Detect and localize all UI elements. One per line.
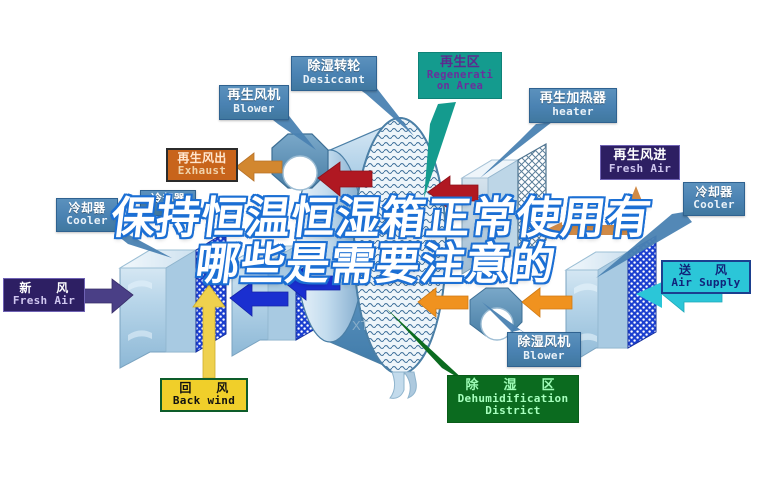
label-dehumidification-district-cn: 除 湿 区 — [448, 379, 578, 393]
label-regeneration-area-en2: on Area — [419, 81, 501, 92]
label-regeneration-blower[interactable]: 再生风机 Blower — [219, 85, 289, 120]
label-exhaust-cn: 再生风出 — [168, 152, 236, 165]
label-dehumidification-blower-en: Blower — [508, 350, 580, 362]
svg-text:XT: XT — [352, 318, 369, 333]
label-desiccant-rotor[interactable]: 除湿转轮 Desiccant — [291, 56, 377, 91]
label-regeneration-heater-en: heater — [530, 106, 616, 118]
label-exhaust-en: Exhaust — [168, 165, 236, 177]
label-regeneration-fresh-air-cn: 再生风进 — [601, 149, 679, 163]
regen-hot-air-arrow-1 — [318, 162, 372, 196]
label-regeneration-fresh-air-en: Fresh Air — [601, 163, 679, 175]
back-wind-arrow — [193, 285, 225, 378]
label-regeneration-blower-cn: 再生风机 — [220, 89, 288, 103]
label-desiccant-rotor-cn: 除湿转轮 — [292, 60, 376, 74]
headline-line-2: 哪些是需要注意的 — [0, 242, 757, 288]
regeneration-blower — [272, 134, 328, 190]
label-dehumidification-district[interactable]: 除 湿 区 Dehumidification District — [447, 375, 579, 423]
label-regeneration-blower-en: Blower — [220, 103, 288, 115]
exhaust-arrow — [236, 153, 282, 181]
diagram-canvas: XT — [0, 0, 757, 488]
dry-air-arrow-2 — [522, 288, 572, 317]
headline-overlay: 保持恒温恒湿箱正常使用有 哪些是需要注意的 — [0, 196, 757, 288]
label-regeneration-fresh-air[interactable]: 再生风进 Fresh Air — [600, 145, 680, 180]
label-desiccant-rotor-en: Desiccant — [292, 74, 376, 86]
label-back-wind-cn: 回 风 — [162, 382, 246, 395]
label-dehumidification-blower-cn: 除湿风机 — [508, 336, 580, 350]
label-back-wind[interactable]: 回 风 Back wind — [160, 378, 248, 412]
label-regeneration-area-cn: 再生区 — [419, 56, 501, 70]
label-back-wind-en: Back wind — [162, 395, 246, 407]
headline-line-1: 保持恒温恒湿箱正常使用有 — [0, 196, 757, 242]
label-regeneration-heater-cn: 再生加热器 — [530, 92, 616, 106]
label-regeneration-heater[interactable]: 再生加热器 heater — [529, 88, 617, 123]
label-dehumidification-district-en2: District — [448, 405, 578, 417]
label-regeneration-area[interactable]: 再生区 Regenerati on Area — [418, 52, 502, 99]
label-dehumidification-blower[interactable]: 除湿风机 Blower — [507, 332, 581, 367]
dry-air-arrow-1 — [418, 288, 468, 317]
label-fresh-air-intake-en: Fresh Air — [4, 295, 84, 307]
label-exhaust[interactable]: 再生风出 Exhaust — [166, 148, 238, 182]
